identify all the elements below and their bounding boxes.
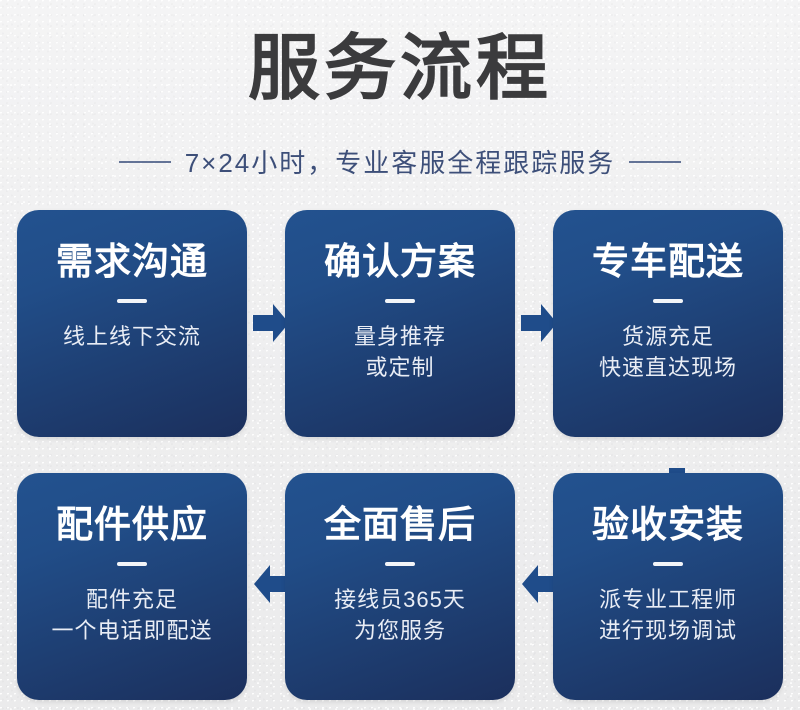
flow-step-title: 专车配送 <box>592 242 744 282</box>
service-flow-poster: 服务流程 7×24小时，专业客服全程跟踪服务 需求沟通 线上线下交流 确认方案 … <box>0 0 800 710</box>
page-title: 服务流程 <box>0 30 800 108</box>
flow-step-description: 量身推荐 或定制 <box>354 321 446 383</box>
flow-step-divider <box>117 562 147 566</box>
flow-step-title: 全面售后 <box>324 505 476 545</box>
flow-step-title: 确认方案 <box>324 242 476 282</box>
arrow-right-icon <box>521 304 557 342</box>
subtitle-rule-right <box>629 161 681 163</box>
flow-step-card-1[interactable]: 需求沟通 线上线下交流 <box>17 210 247 437</box>
flow-step-card-6[interactable]: 验收安装 派专业工程师 进行现场调试 <box>553 473 783 700</box>
flow-step-divider <box>653 562 683 566</box>
flow-step-card-4[interactable]: 配件供应 配件充足 一个电话即配送 <box>17 473 247 700</box>
flow-step-divider <box>653 299 683 303</box>
flow-step-title: 需求沟通 <box>56 242 208 282</box>
flow-row-1: 需求沟通 线上线下交流 确认方案 量身推荐 或定制 专车配送 <box>17 210 783 437</box>
flow-step-divider <box>385 299 415 303</box>
flow-step-description: 线上线下交流 <box>63 321 201 352</box>
arrow-right-icon <box>253 304 289 342</box>
flow-grid: 需求沟通 线上线下交流 确认方案 量身推荐 或定制 专车配送 <box>17 210 783 700</box>
flow-step-description: 货源充足 快速直达现场 <box>599 321 737 383</box>
page-subtitle: 7×24小时，专业客服全程跟踪服务 <box>185 143 616 180</box>
flow-row-2: 配件供应 配件充足 一个电话即配送 全面售后 接线员365天 为您服务 <box>17 473 783 700</box>
flow-step-description: 派专业工程师 进行现场调试 <box>599 584 737 646</box>
flow-step-title: 验收安装 <box>592 505 744 545</box>
flow-step-divider <box>385 562 415 566</box>
flow-step-description: 配件充足 一个电话即配送 <box>51 584 212 646</box>
subtitle-row: 7×24小时，专业客服全程跟踪服务 <box>0 143 800 180</box>
flow-step-title: 配件供应 <box>56 505 208 545</box>
flow-step-card-5[interactable]: 全面售后 接线员365天 为您服务 <box>285 473 515 700</box>
flow-step-card-2[interactable]: 确认方案 量身推荐 或定制 <box>285 210 515 437</box>
subtitle-rule-left <box>119 161 171 163</box>
flow-step-divider <box>117 299 147 303</box>
flow-step-description: 接线员365天 为您服务 <box>334 584 466 646</box>
flow-step-card-3[interactable]: 专车配送 货源充足 快速直达现场 <box>553 210 783 437</box>
